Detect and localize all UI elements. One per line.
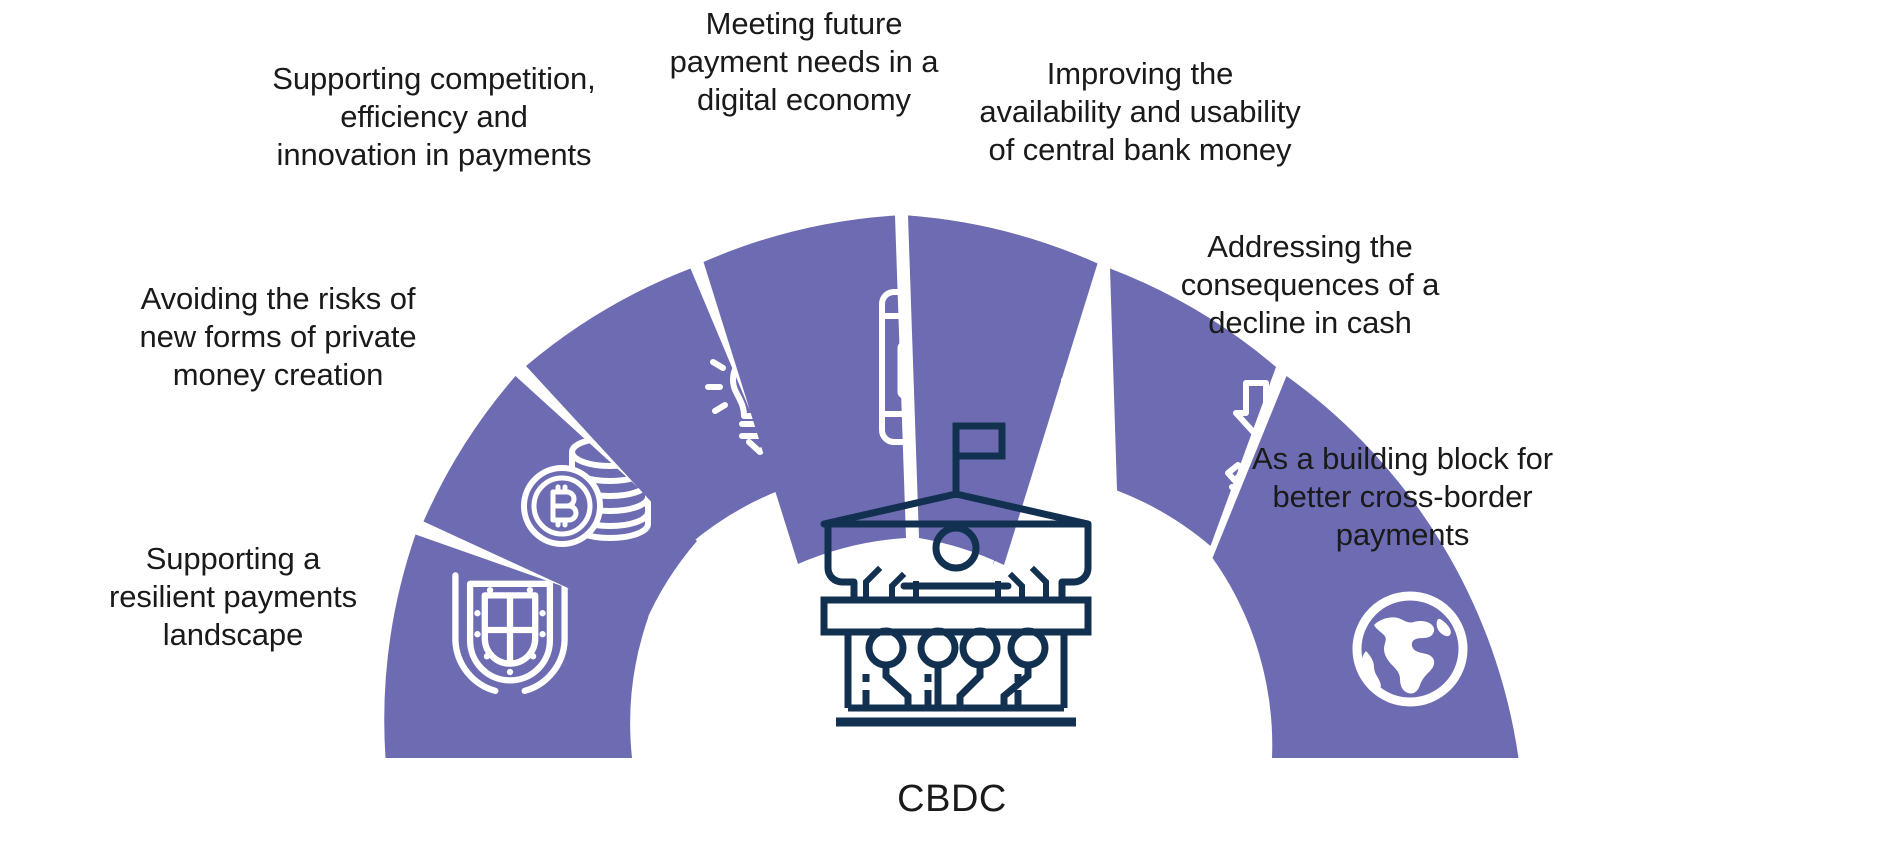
diagram-canvas: Supporting a resilient payments landscap…: [0, 0, 1904, 854]
label-cross-border-payments: As a building block for better cross-bor…: [1230, 440, 1575, 553]
label-competition-efficiency-innovation: Supporting competition, efficiency and i…: [250, 60, 618, 173]
label-future-payment-needs: Meeting future payment needs in a digita…: [650, 5, 958, 118]
label-private-money-risks: Avoiding the risks of new forms of priva…: [108, 280, 448, 393]
shield-icon: [455, 575, 564, 691]
center-caption: CBDC: [802, 778, 1102, 821]
label-resilient-payments: Supporting a resilient payments landscap…: [68, 540, 398, 653]
label-decline-in-cash: Addressing the consequences of a decline…: [1150, 228, 1470, 341]
label-availability-usability-central-bank-money: Improving the availability and usability…: [965, 55, 1315, 168]
